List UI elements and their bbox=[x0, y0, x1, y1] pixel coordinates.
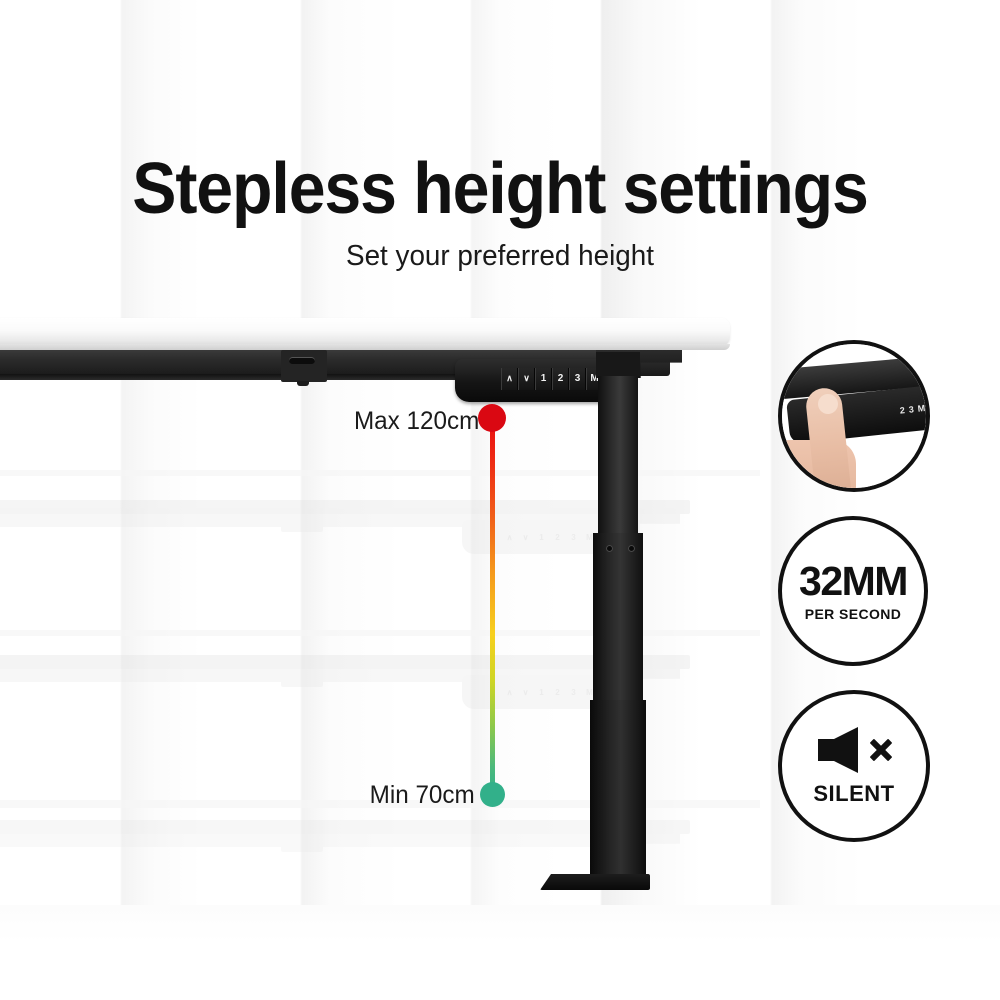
min-height-marker-dot bbox=[480, 782, 505, 807]
min-height-label: Min 70cm bbox=[370, 781, 475, 810]
leg-bolt bbox=[628, 545, 635, 552]
ghost-desktop bbox=[0, 655, 690, 669]
leg-column-upper bbox=[598, 376, 638, 536]
speed-value: 32MM bbox=[799, 561, 907, 601]
ghost-cable-clip bbox=[281, 834, 323, 852]
key-up-arrow[interactable]: ∧ bbox=[501, 368, 518, 390]
ghost-key: 2 bbox=[550, 688, 565, 697]
leg-column-lower bbox=[590, 700, 646, 880]
photo-key-m: M bbox=[917, 403, 926, 414]
speaker-mute-icon bbox=[816, 725, 892, 775]
ghost-key: ∧ bbox=[502, 533, 517, 542]
cable-clip bbox=[281, 350, 327, 382]
product-image-canvas: Stepless height settings Set your prefer… bbox=[0, 0, 1000, 1000]
silent-label: SILENT bbox=[813, 781, 894, 807]
key-preset-2[interactable]: 2 bbox=[552, 368, 569, 390]
speaker-cone bbox=[834, 727, 858, 773]
badge-speed: 32MM PER SECOND bbox=[778, 516, 928, 666]
badge-touch-control: 2 3 M A bbox=[778, 340, 930, 492]
photo-key-3: 3 bbox=[908, 404, 914, 414]
leg-column-middle bbox=[593, 533, 643, 703]
ghost-cable-clip bbox=[281, 669, 323, 687]
photo-key-2: 2 bbox=[899, 405, 905, 415]
height-range-gradient-line bbox=[490, 414, 495, 794]
ghost-key: 3 bbox=[566, 688, 581, 697]
background-wall-line-2 bbox=[0, 630, 760, 636]
page-title: Stepless height settings bbox=[40, 152, 960, 226]
leg-top-joint bbox=[596, 352, 640, 376]
cable-clip-tab bbox=[297, 381, 309, 386]
touch-control-photo: 2 3 M A bbox=[782, 344, 926, 488]
ghost-desktop bbox=[0, 820, 690, 834]
ghost-desktop bbox=[0, 500, 690, 514]
ghost-key: 1 bbox=[534, 688, 549, 697]
ghost-key: 1 bbox=[534, 533, 549, 542]
desktop-surface bbox=[0, 318, 730, 346]
speed-unit: PER SECOND bbox=[805, 606, 902, 622]
ghost-key: ∧ bbox=[502, 688, 517, 697]
background-wall-line-1 bbox=[0, 470, 760, 476]
background-floor bbox=[0, 905, 1000, 1000]
page-subtitle: Set your preferred height bbox=[20, 240, 980, 272]
max-height-label: Max 120cm bbox=[354, 407, 479, 436]
ghost-key: ∨ bbox=[518, 688, 533, 697]
key-preset-1[interactable]: 1 bbox=[535, 368, 552, 390]
ghost-key: 3 bbox=[566, 533, 581, 542]
ghost-cable-clip bbox=[281, 514, 323, 532]
key-preset-3[interactable]: 3 bbox=[569, 368, 586, 390]
max-height-marker-dot bbox=[478, 404, 506, 432]
leg-foot-base bbox=[540, 874, 650, 890]
ghost-key: 2 bbox=[550, 533, 565, 542]
badge-silent: SILENT bbox=[778, 690, 930, 842]
leg-bolt bbox=[606, 545, 613, 552]
key-down-arrow[interactable]: ∨ bbox=[518, 368, 535, 390]
ghost-key: ∨ bbox=[518, 533, 533, 542]
